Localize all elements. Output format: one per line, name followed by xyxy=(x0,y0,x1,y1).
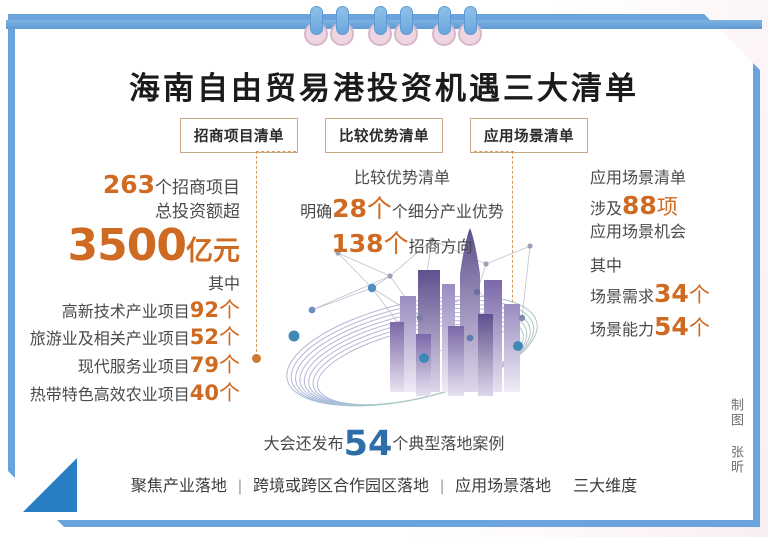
footer-cases-line: 大会还发布54个典型落地案例 xyxy=(0,424,768,464)
right-item-0-value: 34 xyxy=(654,279,689,308)
left-item-1-value: 52 xyxy=(190,325,219,349)
left-headline-number: 263 xyxy=(103,170,155,199)
right-line-1-unit: 项 xyxy=(657,196,678,219)
binder-ring-icon xyxy=(310,6,323,35)
page-title: 海南自由贸易港投资机遇三大清单 xyxy=(0,63,768,108)
binder-ring-icon xyxy=(438,6,451,35)
binder-ring-icon xyxy=(336,6,349,35)
binder-ring-pair-2 xyxy=(370,6,428,46)
center-title: 比较优势清单 xyxy=(296,168,508,189)
binder-ring-icon xyxy=(464,6,477,35)
left-item-0: 高新技术产业项目92个 xyxy=(28,297,240,325)
center-line-1-prefix: 明确 xyxy=(300,204,332,221)
left-item-1-unit: 个 xyxy=(219,326,240,349)
center-line-1-suffix: 个细分产业优势 xyxy=(392,204,504,221)
binder-ring-icon xyxy=(374,6,387,35)
right-item-0-unit: 个 xyxy=(689,284,710,307)
left-item-3-label: 热带特色高效农业项目 xyxy=(30,387,190,404)
left-item-0-unit: 个 xyxy=(219,299,240,322)
spacer xyxy=(590,243,762,256)
footer-cases-suffix: 个典型落地案例 xyxy=(392,436,504,453)
footer-separator-2: | xyxy=(429,478,455,495)
left-big-number-row: 3500亿元 xyxy=(28,223,240,269)
right-line-2: 应用场景机会 xyxy=(590,222,762,243)
left-among-label: 其中 xyxy=(28,274,240,295)
credit-text: 制图 张昕 xyxy=(727,398,746,475)
left-item-2-value: 79 xyxy=(190,353,219,377)
left-big-number: 3500 xyxy=(68,220,186,271)
left-headline-suffix: 个招商项目 xyxy=(155,178,240,197)
right-item-1-label: 场景能力 xyxy=(590,322,654,339)
left-item-2-unit: 个 xyxy=(219,354,240,377)
tab-application-scenarios[interactable]: 应用场景清单 xyxy=(470,118,588,153)
right-item-1-value: 54 xyxy=(654,312,689,341)
center-unit-icon: 个 xyxy=(367,195,392,223)
right-line-1: 涉及88项 xyxy=(590,189,762,222)
footer-separator: | xyxy=(227,478,253,495)
right-title: 应用场景清单 xyxy=(590,168,762,189)
binder-ring-icon xyxy=(400,6,413,35)
center-unit-icon-2: 个 xyxy=(384,230,409,258)
right-item-1-unit: 个 xyxy=(689,317,710,340)
center-line-1-number: 28 xyxy=(332,194,367,223)
footer-dimension-0: 聚焦产业落地 xyxy=(131,478,227,495)
tab-comparative-advantage[interactable]: 比较优势清单 xyxy=(325,118,443,153)
left-headline: 263个招商项目 xyxy=(28,168,240,201)
footer-cases-prefix: 大会还发布 xyxy=(264,436,344,453)
binder-ring-pair-3 xyxy=(434,6,492,46)
left-column: 263个招商项目 总投资额超 3500亿元 其中 高新技术产业项目92个 旅游业… xyxy=(28,168,240,408)
right-among-label: 其中 xyxy=(590,256,762,277)
left-item-0-label: 高新技术产业项目 xyxy=(62,304,190,321)
right-item-1: 场景能力54个 xyxy=(590,310,762,343)
center-line-1: 明确28个个细分产业优势 xyxy=(296,192,508,226)
right-item-0-label: 场景需求 xyxy=(590,289,654,306)
tab-bar: 招商项目清单 比较优势清单 应用场景清单 xyxy=(0,118,768,153)
center-column: 比较优势清单 明确28个个细分产业优势 138个招商方向 xyxy=(296,168,508,261)
left-item-3-unit: 个 xyxy=(219,382,240,405)
binder-ring-pair-1 xyxy=(306,6,364,46)
right-line-1-number: 88 xyxy=(622,191,657,220)
footer-cases-number: 54 xyxy=(344,424,393,464)
left-item-1-label: 旅游业及相关产业项目 xyxy=(30,331,190,348)
center-line-2-number: 138 xyxy=(331,229,383,258)
left-item-1: 旅游业及相关产业项目52个 xyxy=(28,324,240,352)
left-item-2-label: 现代服务业项目 xyxy=(78,359,190,376)
right-item-0: 场景需求34个 xyxy=(590,277,762,310)
right-column: 应用场景清单 涉及88项 应用场景机会 其中 场景需求34个 场景能力54个 xyxy=(590,168,762,343)
footer-dimension-2: 应用场景落地 xyxy=(455,478,551,495)
left-big-unit: 亿元 xyxy=(186,236,240,267)
center-line-2-suffix: 招商方向 xyxy=(409,239,473,256)
right-line-1-prefix: 涉及 xyxy=(590,201,622,218)
footer-dimension-1: 跨境或跨区合作园区落地 xyxy=(253,478,429,495)
binder-rings xyxy=(0,6,768,46)
left-item-2: 现代服务业项目79个 xyxy=(28,352,240,380)
left-item-3-value: 40 xyxy=(190,381,219,405)
infographic-canvas: 海南自由贸易港投资机遇三大清单 招商项目清单 比较优势清单 应用场景清单 xyxy=(0,0,768,537)
footer-dimensions: 聚焦产业落地|跨境或跨区合作园区落地|应用场景落地三大维度 xyxy=(0,472,768,496)
center-line-2: 138个招商方向 xyxy=(296,227,508,261)
tab-investment-projects[interactable]: 招商项目清单 xyxy=(180,118,298,153)
footer-dimensions-tail: 三大维度 xyxy=(573,478,637,495)
left-item-0-value: 92 xyxy=(190,298,219,322)
left-item-3: 热带特色高效农业项目40个 xyxy=(28,380,240,408)
